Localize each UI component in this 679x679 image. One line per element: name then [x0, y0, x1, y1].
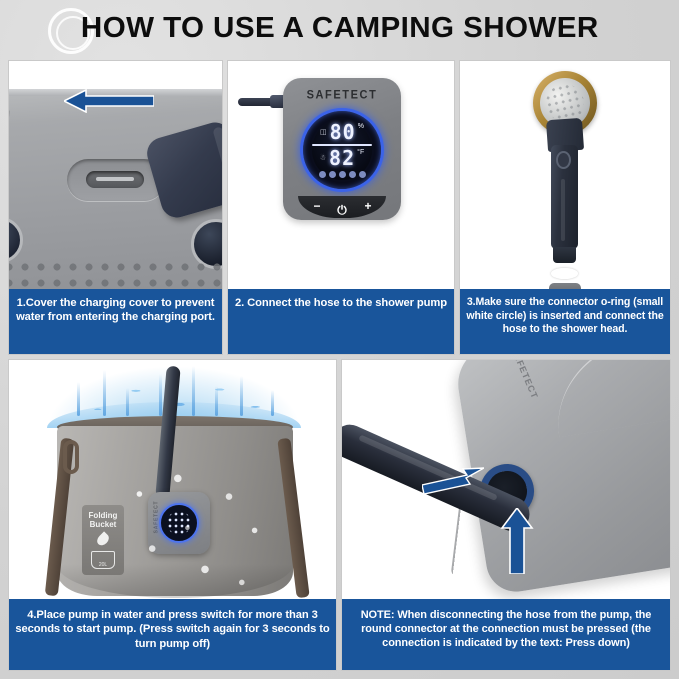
charging-cover-flap	[143, 119, 222, 222]
temperature-value: 82	[329, 148, 355, 168]
pump-front-panel: SAFETECT ◫ 80 % ☃ 82 °F	[283, 78, 401, 220]
bucket-strap-loop	[63, 440, 79, 474]
step-2-photo: SAFETECT ◫ 80 % ☃ 82 °F	[228, 61, 454, 289]
handle-switch-icon	[556, 151, 571, 169]
mode-icon-4	[349, 171, 356, 178]
battery-value: 80	[330, 122, 356, 142]
pump-top-curve	[546, 360, 670, 437]
note-panel: SAFETECT NOTE: When disconnecting the ho…	[341, 359, 671, 671]
left-arrow-icon	[64, 89, 154, 113]
pump-knob-left	[9, 217, 23, 263]
shower-head-illustration	[525, 71, 605, 289]
lcd-screen: ◫ 80 % ☃ 82 °F	[312, 120, 372, 180]
step-3-caption: 3.Make sure the connector o-ring (small …	[460, 289, 670, 354]
plus-button[interactable]: +	[360, 199, 376, 213]
mini-bucket-icon: 20L	[91, 551, 115, 569]
page-title: HOW TO USE A CAMPING SHOWER	[81, 12, 599, 45]
step-3-photo	[460, 61, 670, 289]
o-ring-icon	[551, 268, 578, 279]
mode-icon-5	[359, 171, 366, 178]
screw-icon	[9, 107, 10, 120]
pump-closeup-brand-text: SAFETECT	[509, 360, 540, 400]
step-1-photo	[9, 61, 222, 289]
power-button[interactable]: ⏻	[334, 202, 350, 218]
brand-logo-text: SAFETECT	[283, 88, 401, 101]
step-4-caption: 4.Place pump in water and press switch f…	[9, 599, 336, 670]
hose-connector-illustration	[238, 95, 286, 108]
bubbles-graphic	[117, 468, 277, 598]
led-ring-display: ◫ 80 % ☃ 82 °F	[300, 108, 384, 192]
diagonal-arrow-icon	[422, 466, 484, 498]
mode-icon-3	[339, 171, 346, 178]
step-panel-2: SAFETECT ◫ 80 % ☃ 82 °F	[227, 60, 455, 355]
step-1-caption: 1.Cover the charging cover to prevent wa…	[9, 289, 222, 354]
vent-dots-pattern	[9, 259, 222, 289]
connector-closeup-scene: SAFETECT	[342, 360, 670, 599]
battery-icon: ◫	[320, 128, 327, 136]
step-panel-3: 3.Make sure the connector o-ring (small …	[459, 60, 671, 355]
note-caption: NOTE: When disconnecting the hose from t…	[342, 599, 670, 670]
step-panel-1: 1.Cover the charging cover to prevent wa…	[8, 60, 223, 355]
battery-unit: %	[358, 123, 364, 130]
minus-button[interactable]: −	[309, 199, 325, 213]
pump-body-illustration	[9, 89, 222, 289]
steps-grid: 1.Cover the charging cover to prevent wa…	[8, 60, 671, 671]
thermometer-icon: ☃	[320, 154, 326, 162]
handle-base	[553, 247, 576, 263]
pump-button-bar: − ⏻ +	[298, 196, 386, 218]
mode-icon-1	[319, 171, 326, 178]
hose-connector-piece	[549, 283, 581, 289]
usb-c-port-icon	[86, 171, 144, 188]
note-photo: SAFETECT	[342, 360, 670, 599]
lcd-mode-icons	[319, 171, 366, 178]
step-panel-4: Folding Bucket 20L SAFETECT 4.Place pump…	[8, 359, 337, 671]
temperature-unit: °F	[357, 149, 364, 156]
step-4-photo: Folding Bucket 20L SAFETECT	[9, 360, 336, 599]
handle-groove	[561, 179, 565, 241]
bucket-scene: Folding Bucket 20L SAFETECT	[9, 360, 336, 599]
step-2-caption: 2. Connect the hose to the shower pump	[228, 289, 454, 354]
up-arrow-icon	[500, 508, 534, 574]
water-drop-icon	[95, 532, 111, 548]
header-banner: HOW TO USE A CAMPING SHOWER	[0, 0, 679, 57]
mode-icon-2	[329, 171, 336, 178]
